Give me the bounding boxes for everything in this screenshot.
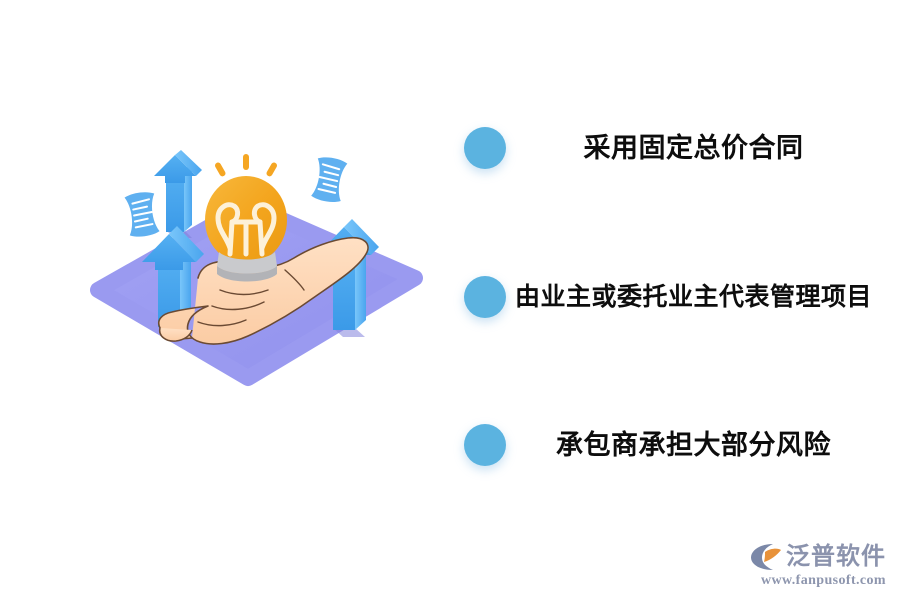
watermark-url: www.fanpusoft.com [761,574,886,588]
list-item-label: 由业主或委托业主代表管理项目 [506,282,875,312]
bullet-list: 采用固定总价合同 由业主或委托业主代表管理项目 承包商承担大部分风险 [455,112,875,492]
paper-document-left [124,191,160,239]
list-item[interactable]: 承包商承担大部分风险 [455,418,875,472]
bullet-dot-icon [464,424,506,466]
illustration-hand-holding-lightbulb [80,150,440,400]
lightbulb-icon [205,176,287,282]
watermark: 泛普软件 www.fanpusoft.com [749,542,886,588]
slide-canvas: 采用固定总价合同 由业主或委托业主代表管理项目 承包商承担大部分风险 泛普软件 … [0,0,900,600]
list-item[interactable]: 采用固定总价合同 [455,121,875,175]
arrow-up-back-left [154,150,202,238]
bullet-dot-icon [464,276,506,318]
bullet-dot-icon [464,127,506,169]
lightbulb-rays [214,154,278,177]
list-item-label: 采用固定总价合同 [506,132,875,164]
fanpu-logo-icon [749,542,783,572]
list-item[interactable]: 由业主或委托业主代表管理项目 [455,270,875,324]
list-item-label: 承包商承担大部分风险 [506,429,875,461]
watermark-brand-name: 泛普软件 [786,545,886,569]
paper-document-right [311,155,348,204]
watermark-brand-row: 泛普软件 [749,542,886,572]
